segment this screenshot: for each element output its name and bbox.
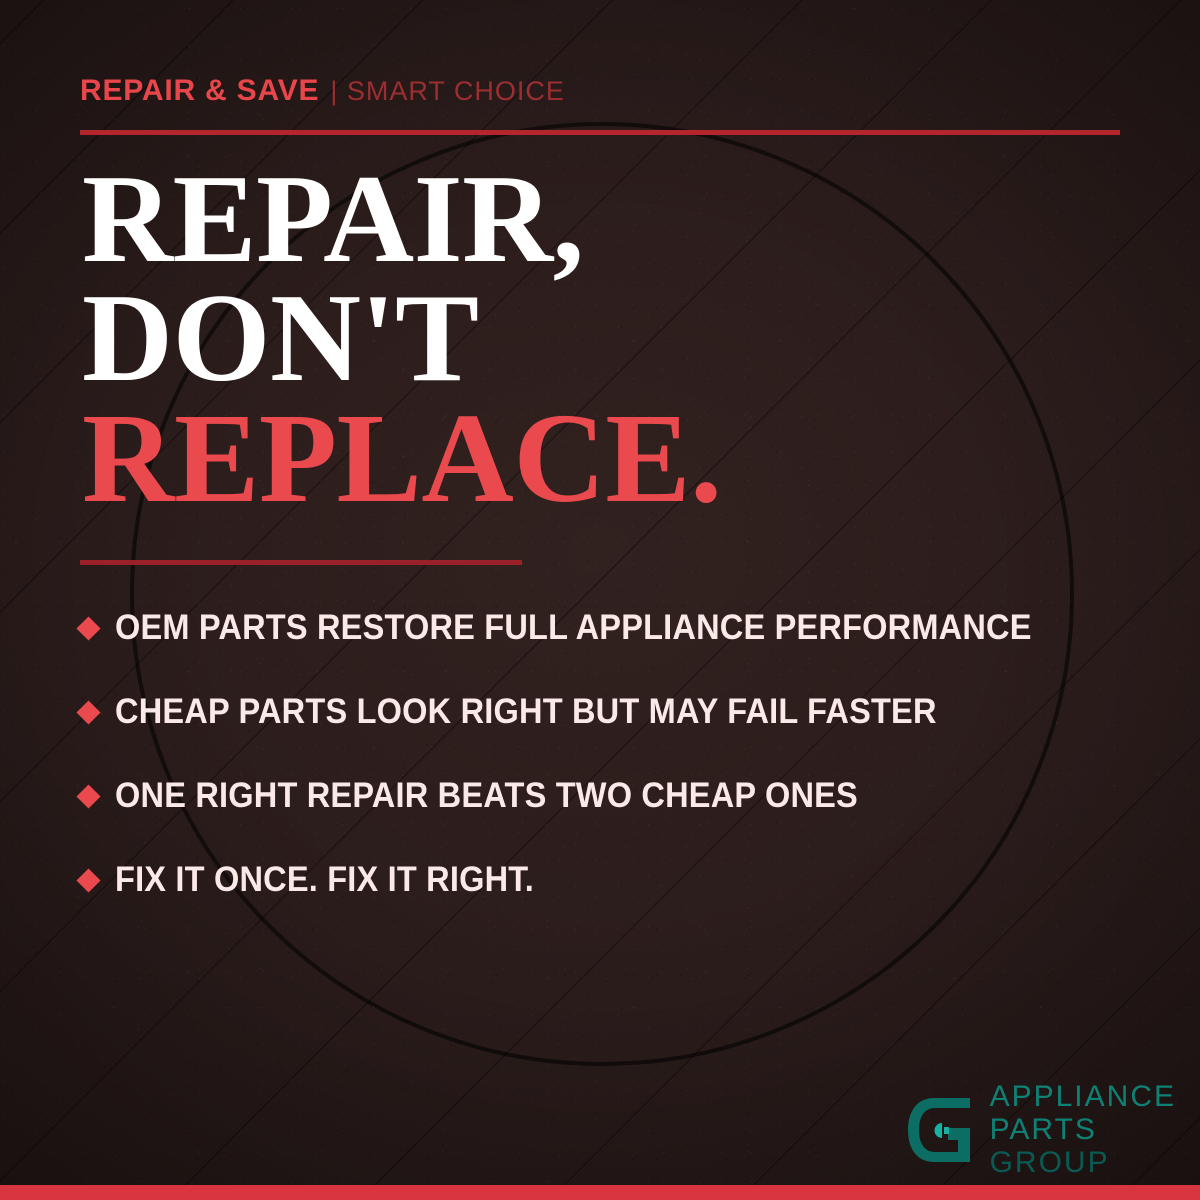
brand-wordmark: APPLIANCE PARTS GROUP xyxy=(990,1082,1176,1178)
headline-line-1: REPAIR, xyxy=(82,160,1122,279)
headline-block: REPAIR, DON'T REPLACE. xyxy=(82,160,1122,519)
kicker-main-label: REPAIR & SAVE xyxy=(80,74,319,108)
divider-middle xyxy=(80,560,522,565)
kicker-sub-label: | SMART CHOICE xyxy=(330,76,565,107)
list-item-label: ONE RIGHT REPAIR BEATS TWO CHEAP ONES xyxy=(115,776,858,816)
list-item-label: OEM PARTS RESTORE FULL APPLIANCE PERFORM… xyxy=(115,608,1032,648)
headline-line-3: REPLACE. xyxy=(82,398,1122,519)
benefit-list: OEM PARTS RESTORE FULL APPLIANCE PERFORM… xyxy=(80,586,1150,922)
list-item: FIX IT ONCE. FIX IT RIGHT. xyxy=(80,838,1150,922)
diamond-bullet-icon xyxy=(76,616,100,640)
list-item: CHEAP PARTS LOOK RIGHT BUT MAY FAIL FAST… xyxy=(80,670,1150,754)
g-monogram-icon xyxy=(904,1094,976,1166)
headline-line-2: DON'T xyxy=(82,279,1122,398)
bottom-accent-bar xyxy=(0,1185,1200,1200)
diamond-bullet-icon xyxy=(76,784,100,808)
diamond-bullet-icon xyxy=(76,700,100,724)
poster-canvas: REPAIR & SAVE | SMART CHOICE REPAIR, DON… xyxy=(0,0,1200,1200)
poster-content: REPAIR & SAVE | SMART CHOICE REPAIR, DON… xyxy=(0,0,1200,1200)
brand-word-appliance: APPLIANCE xyxy=(990,1082,1176,1112)
list-item: ONE RIGHT REPAIR BEATS TWO CHEAP ONES xyxy=(80,754,1150,838)
brand-logo: APPLIANCE PARTS GROUP xyxy=(904,1082,1176,1178)
list-item-label: FIX IT ONCE. FIX IT RIGHT. xyxy=(115,860,534,900)
diamond-bullet-icon xyxy=(76,868,100,892)
list-item-label: CHEAP PARTS LOOK RIGHT BUT MAY FAIL FAST… xyxy=(115,692,937,732)
brand-word-parts: PARTS xyxy=(990,1115,1176,1145)
brand-word-group: GROUP xyxy=(990,1148,1176,1178)
list-item: OEM PARTS RESTORE FULL APPLIANCE PERFORM… xyxy=(80,586,1150,670)
kicker-eyebrow: REPAIR & SAVE | SMART CHOICE xyxy=(80,74,565,108)
divider-top xyxy=(80,130,1120,135)
